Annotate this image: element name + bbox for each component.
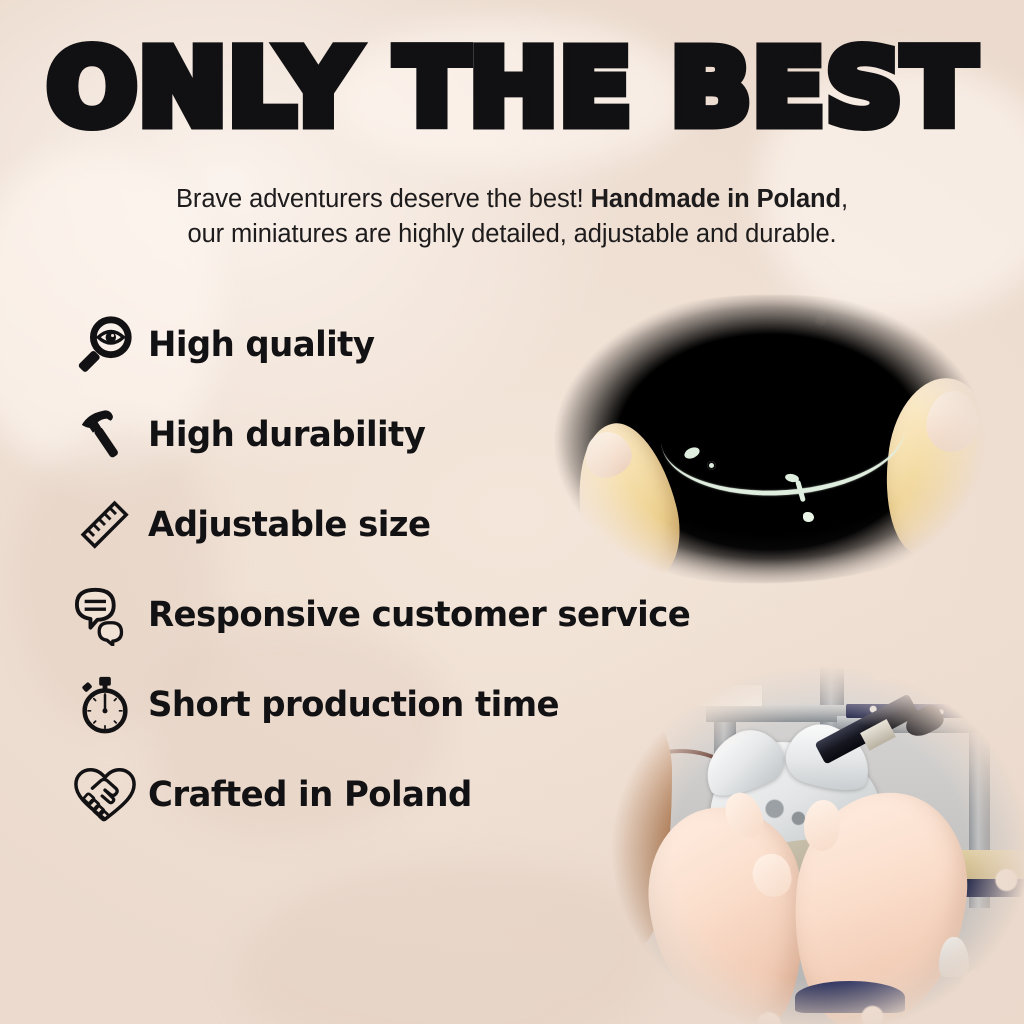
magnifier-eye-icon	[62, 307, 148, 383]
headline-gloss	[0, 184, 10, 220]
shelf-label	[693, 684, 763, 708]
stopwatch-icon	[62, 667, 148, 743]
hammer-icon	[62, 397, 148, 473]
feature-label: Short production time	[148, 685, 559, 725]
feature-label: Adjustable size	[148, 505, 430, 545]
speech-bubbles-icon	[62, 577, 148, 653]
parts-tray	[795, 981, 905, 1014]
headline-gloss	[0, 314, 10, 346]
headline-gloss	[0, 346, 10, 382]
headline-gloss	[0, 140, 11, 184]
headline-gloss	[0, 284, 9, 314]
headline-gloss	[0, 250, 10, 284]
subtitle-text-b: ,	[841, 185, 848, 213]
heart-handshake-icon	[62, 757, 148, 833]
page-title: ONLY THE BEST	[47, 36, 977, 140]
headline-gloss	[0, 382, 9, 412]
subtitle-line-2: our miniatures are highly detailed, adju…	[64, 217, 960, 252]
painting-workshop-photo	[600, 662, 1024, 1024]
feature-label: Crafted in Poland	[148, 775, 472, 815]
headline-gloss	[0, 412, 10, 446]
headline-gloss	[0, 220, 9, 250]
feature-label: High quality	[148, 325, 374, 365]
subtitle-text-a: Brave adventurers deserve the best!	[176, 185, 591, 213]
subtitle-line-1: Brave adventurers deserve the best! Hand…	[64, 182, 960, 217]
feature-label: High durability	[148, 415, 425, 455]
flexible-miniature-photo	[516, 282, 1024, 602]
ruler-icon	[62, 487, 148, 563]
subtitle-bold: Handmade in Poland	[591, 185, 841, 213]
promo-graphic: ONLY THE BEST Brave adventurers deserve …	[0, 0, 1024, 1024]
subtitle: Brave adventurers deserve the best! Hand…	[64, 182, 960, 252]
miniature-detail	[707, 461, 716, 470]
